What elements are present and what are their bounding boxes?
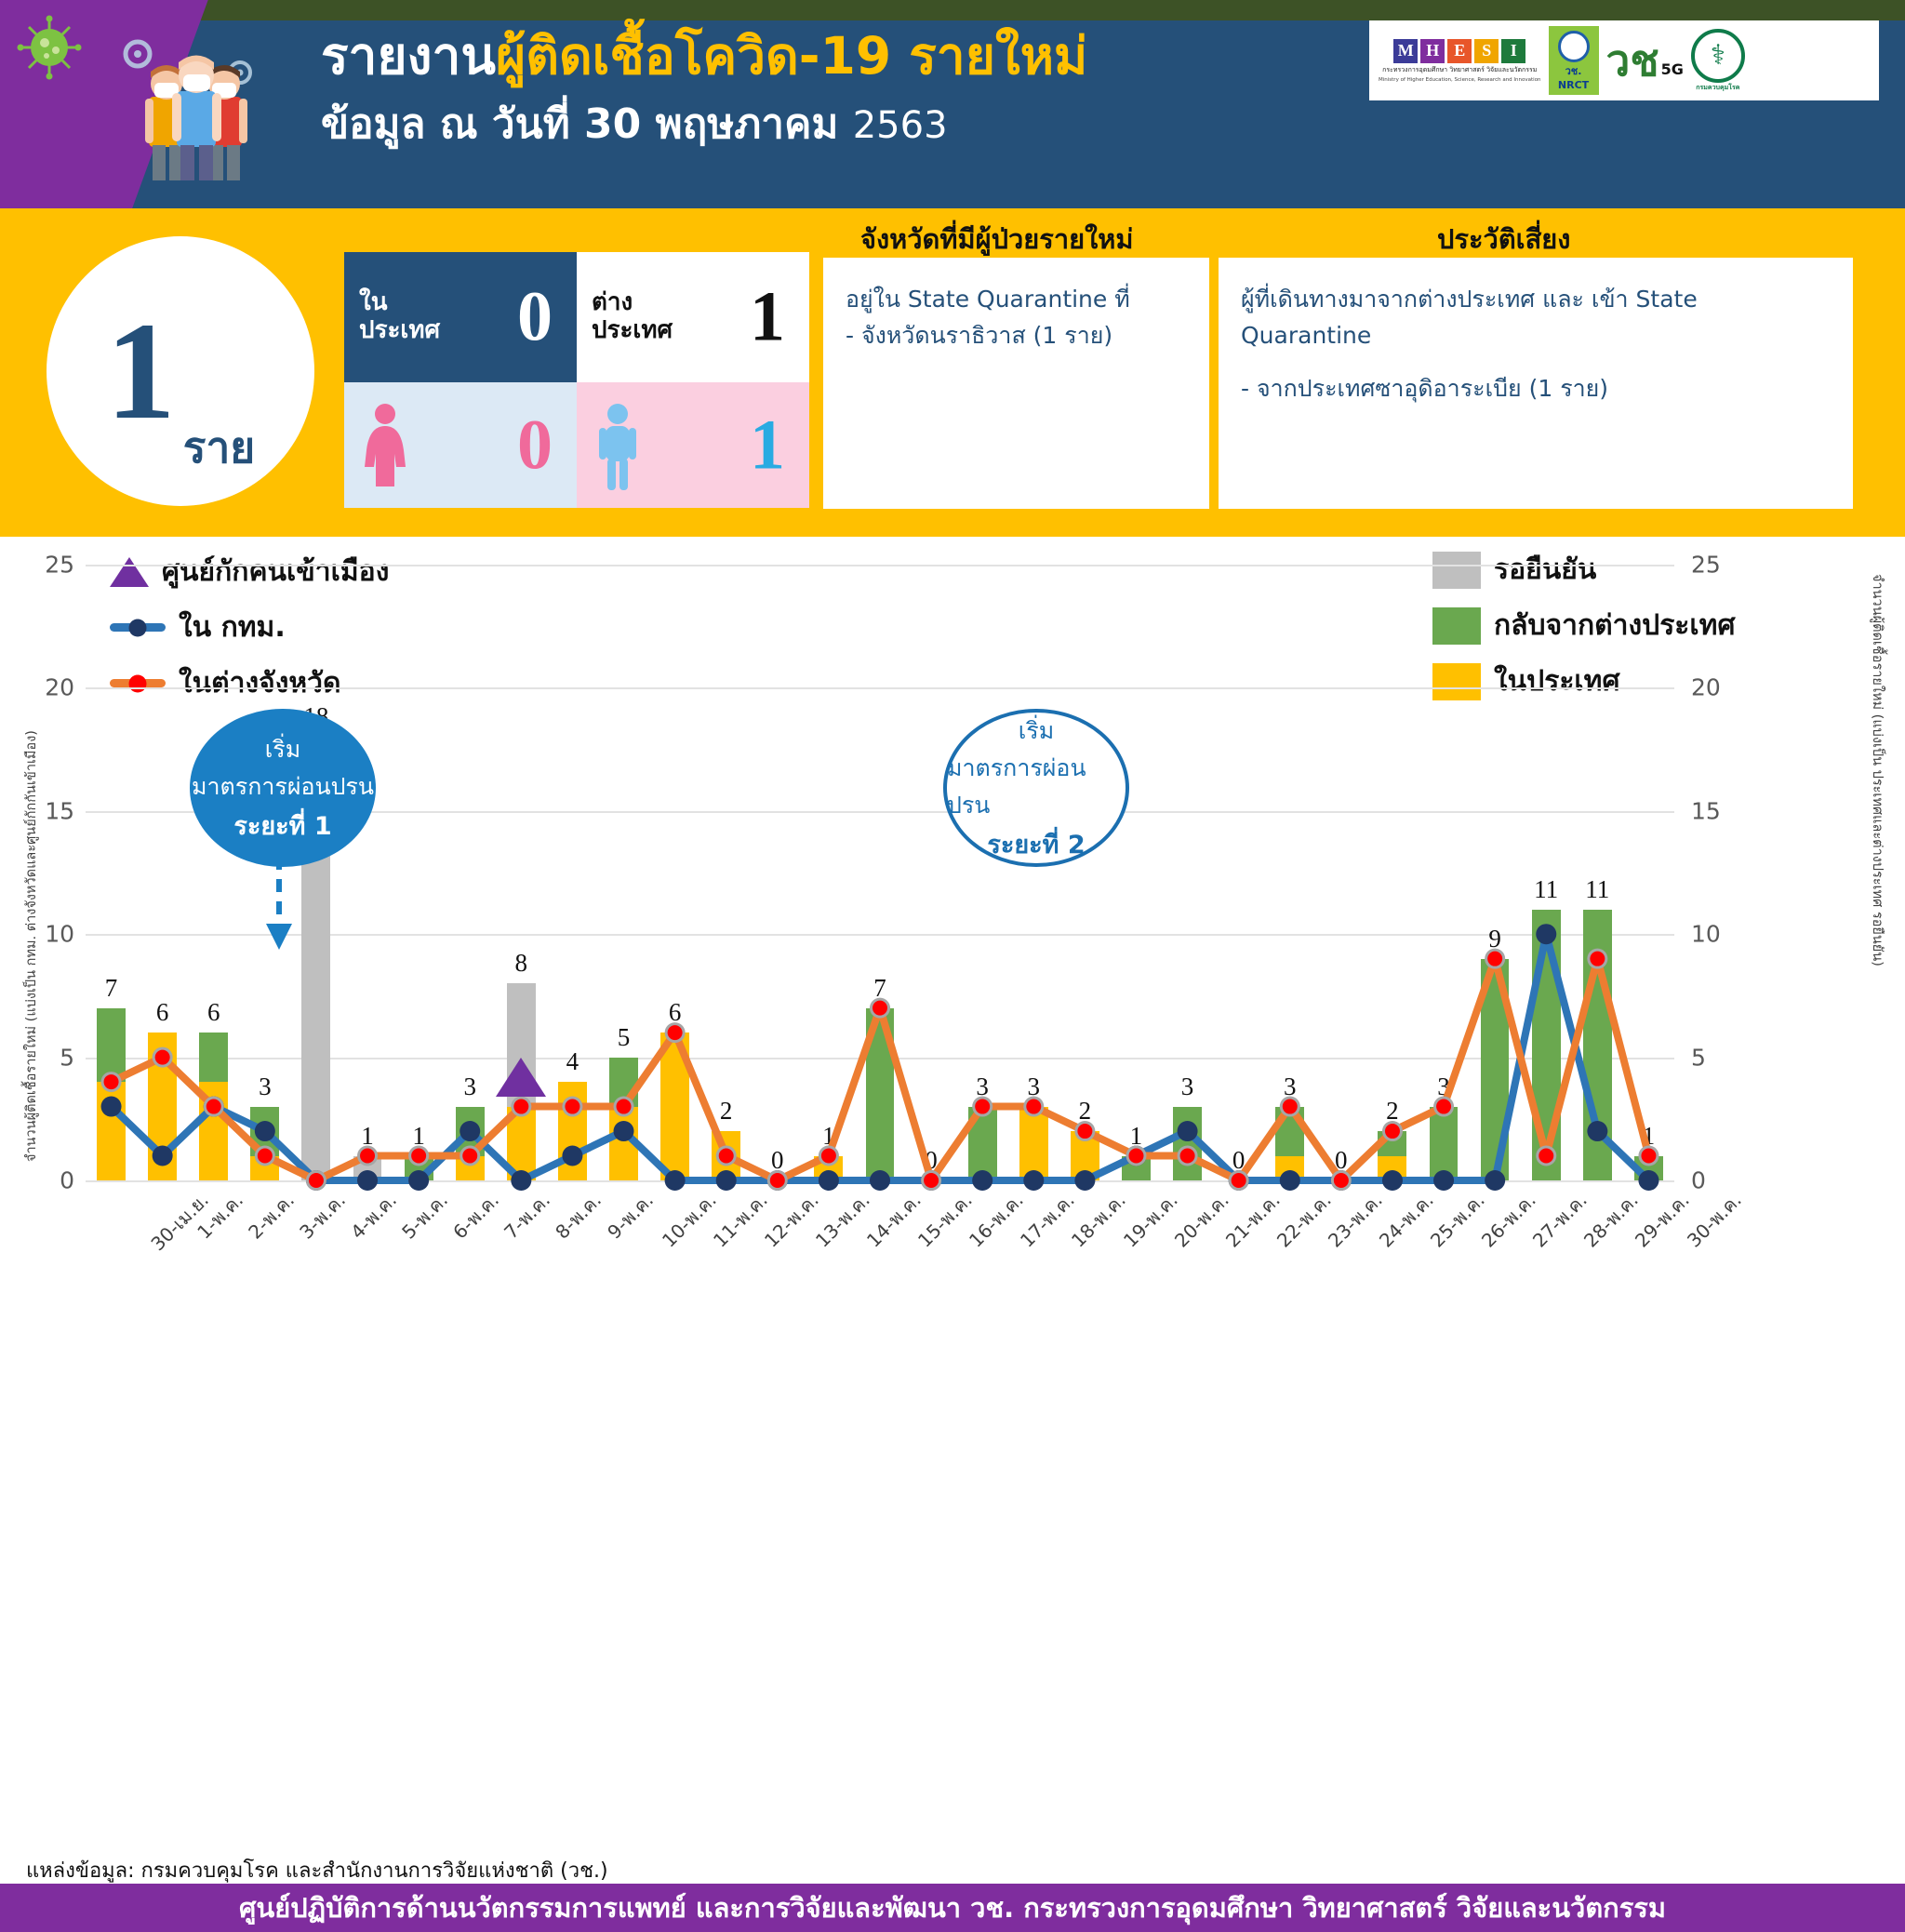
vch-5g-label: 5G: [1661, 60, 1684, 78]
y-tick-right: 20: [1691, 674, 1736, 701]
province-line-2: - จังหวัดนราธิวาส (1 ราย): [846, 318, 1187, 354]
mhesi-thai-name: กระทรวงการอุดมศึกษา วิทยาศาสตร์ วิจัยและ…: [1382, 65, 1537, 75]
breakdown-female: 0: [344, 382, 577, 508]
x-tick-label: 30-พ.ค.: [1680, 1186, 1749, 1255]
line-marker: [614, 1121, 634, 1141]
line-marker: [924, 1173, 939, 1188]
province-heading: จังหวัดที่มีผู้ป่วยรายใหม่: [860, 218, 1134, 260]
source-note: แหล่งข้อมูล: กรมควบคุมโรค และสำนักงานการ…: [26, 1854, 608, 1886]
province-line-1: อยู่ใน State Quarantine ที่: [846, 282, 1187, 318]
line-marker: [716, 1170, 737, 1191]
risk-heading: ประวัติเสี่ยง: [1437, 218, 1570, 260]
x-tick-label: 10-พ.ค.: [655, 1186, 724, 1255]
nrct-english-abbr: NRCT: [1558, 79, 1589, 91]
mhesi-letter: M: [1393, 39, 1418, 63]
line-series-overlay: [86, 565, 1674, 1180]
line-marker: [153, 1146, 173, 1166]
y-tick-right: 15: [1691, 797, 1736, 824]
x-tick-label: 11-พ.ค.: [706, 1186, 775, 1255]
line-marker: [1641, 1149, 1656, 1164]
y-tick-left: 25: [30, 552, 74, 579]
line-marker: [1283, 1099, 1298, 1114]
line-marker: [1128, 1149, 1143, 1164]
y-tick-left: 15: [30, 797, 74, 824]
line-marker: [1436, 1099, 1451, 1114]
x-tick-label: 13-พ.ค.: [808, 1186, 877, 1255]
y-tick-right: 10: [1691, 921, 1736, 948]
mhesi-letter: E: [1447, 39, 1472, 63]
line-marker: [1023, 1170, 1044, 1191]
line-marker: [1077, 1124, 1092, 1139]
breakdown-international-value: 1: [750, 277, 785, 358]
line-marker: [206, 1099, 221, 1114]
summary-band: 1 ราย ในประเทศ 0 ต่างประเทศ 1 0: [0, 208, 1905, 537]
line-marker: [1178, 1121, 1198, 1141]
x-tick-label: 2-พ.ค.: [241, 1186, 301, 1246]
callout-phase-2: เริ่ม มาตรการผ่อนปรน ระยะที่ 2: [943, 709, 1129, 867]
line-marker: [1232, 1173, 1246, 1188]
x-tick-label: 15-พ.ค.: [911, 1186, 979, 1255]
total-cases-value: 1: [106, 301, 176, 441]
x-tick-label: 3-พ.ค.: [292, 1186, 353, 1246]
page-footer: ศูนย์ปฏิบัติการด้านนวัตกรรมการแพทย์ และก…: [0, 1884, 1905, 1932]
mhesi-letter: S: [1474, 39, 1499, 63]
line-marker: [1587, 1121, 1607, 1141]
breakdown-domestic: ในประเทศ 0: [344, 252, 577, 382]
x-tick-label: 7-พ.ค.: [498, 1186, 558, 1246]
line-marker: [511, 1170, 531, 1191]
province-box: อยู่ใน State Quarantine ที่ - จังหวัดนรา…: [823, 258, 1209, 509]
y-tick-left: 0: [30, 1167, 74, 1194]
footer-text: ศูนย์ปฏิบัติการด้านนวัตกรรมการแพทย์ และก…: [239, 1886, 1666, 1929]
mhesi-letter: H: [1420, 39, 1445, 63]
x-tick-label: 18-พ.ค.: [1064, 1186, 1133, 1255]
line-marker: [101, 1097, 122, 1117]
total-cases-oval: 1 ราย: [47, 236, 314, 506]
y-tick-right: 5: [1691, 1044, 1736, 1071]
line-marker: [1385, 1124, 1400, 1139]
x-tick-label: 24-พ.ค.: [1372, 1186, 1441, 1255]
line-marker: [821, 1149, 836, 1164]
y-tick-left: 20: [30, 674, 74, 701]
line-marker: [1074, 1170, 1095, 1191]
chart-area: จำนวนผู้ติดเชื้อรายใหม่ (แบ่งเป็น กทม. ต…: [0, 537, 1905, 1281]
line-marker: [1487, 952, 1502, 966]
line-marker: [565, 1099, 579, 1114]
line-marker: [309, 1173, 324, 1188]
line-marker: [1638, 1170, 1659, 1191]
line-marker: [617, 1099, 632, 1114]
risk-line-2: Quarantine: [1241, 318, 1831, 354]
line-series: [112, 934, 1649, 1180]
logo-bar: MHESI กระทรวงการอุดมศึกษา วิทยาศาสตร์ วิ…: [1369, 20, 1879, 100]
line-marker: [975, 1099, 990, 1114]
x-tick-label: 19-พ.ค.: [1116, 1186, 1185, 1255]
line-marker: [1536, 924, 1556, 944]
subtitle-text: ข้อมูล ณ วันที่ 30 พฤษภาคม: [321, 100, 838, 148]
x-tick-label: 20-พ.ค.: [1167, 1186, 1236, 1255]
title-highlight: ผู้ติดเชื้อโควิด-19 รายใหม่: [496, 26, 1087, 86]
line-marker: [668, 1025, 683, 1040]
line-marker: [462, 1149, 477, 1164]
mhesi-letter: I: [1501, 39, 1525, 63]
page-header: รายงานผู้ติดเชื้อโควิด-19 รายใหม่ ข้อมูล…: [0, 0, 1905, 208]
y-axis-title-right: จำนวนผู้ติดเชื้อรายใหม่ (แบ่งเป็น ประเทศ…: [1867, 574, 1888, 966]
line-marker: [719, 1149, 734, 1164]
infographic-page: รายงานผู้ติดเชื้อโควิด-19 รายใหม่ ข้อมูล…: [0, 0, 1905, 1395]
line-marker: [1026, 1099, 1041, 1114]
male-icon: [592, 401, 644, 490]
total-cases-unit: ราย: [183, 414, 256, 482]
page-subtitle: ข้อมูล ณ วันที่ 30 พฤษภาคม 2563: [321, 91, 1087, 156]
x-tick-label: 5-พ.ค.: [394, 1186, 455, 1246]
callout-1-line-1: เริ่ม: [265, 731, 300, 768]
line-marker: [972, 1170, 992, 1191]
line-marker: [1382, 1170, 1403, 1191]
x-tick-label: 23-พ.ค.: [1321, 1186, 1390, 1255]
nrct-logo: วช. NRCT: [1549, 26, 1599, 95]
header-title-block: รายงานผู้ติดเชื้อโควิด-19 รายใหม่ ข้อมูล…: [321, 30, 1087, 156]
line-marker: [665, 1170, 686, 1191]
subtitle-year: 2563: [853, 104, 948, 147]
breakdown-grid: ในประเทศ 0 ต่างประเทศ 1 0: [344, 252, 809, 508]
virus-icon: [17, 15, 82, 80]
ddc-seal-icon: ⚕: [1691, 29, 1745, 83]
callout-2-line-2: มาตรการผ่อนปรน: [947, 750, 1126, 824]
ddc-thai-name: กรมควบคุมโรค: [1696, 83, 1739, 93]
line-marker: [513, 1099, 528, 1114]
mhesi-logo: MHESI กระทรวงการอุดมศึกษา วิทยาศาสตร์ วิ…: [1379, 39, 1541, 83]
x-tick-label: 4-พ.ค.: [343, 1186, 404, 1246]
risk-box: ผู้ที่เดินทางมาจากต่างประเทศ และ เข้า St…: [1219, 258, 1853, 509]
people-with-masks-icon: [121, 32, 270, 180]
breakdown-domestic-label: ในประเทศ: [359, 289, 440, 345]
breakdown-female-value: 0: [517, 405, 553, 486]
x-tick-label: 29-พ.ค.: [1629, 1186, 1698, 1255]
y-tick-right: 0: [1691, 1167, 1736, 1194]
line-marker: [1433, 1170, 1454, 1191]
vch-mark: วช: [1606, 39, 1659, 82]
header-olive-strip: [0, 0, 1905, 20]
x-tick-label: 22-พ.ค.: [1270, 1186, 1339, 1255]
immigration-triangle-marker: [496, 1058, 546, 1097]
line-marker: [770, 1173, 785, 1188]
line-marker: [1180, 1149, 1195, 1164]
x-tick-label: 12-พ.ค.: [757, 1186, 826, 1255]
nrct-wheel-icon: [1558, 31, 1590, 62]
breakdown-international: ต่างประเทศ 1: [577, 252, 809, 382]
x-tick-label: 6-พ.ค.: [446, 1186, 507, 1246]
line-marker: [870, 1170, 890, 1191]
breakdown-male: 1: [577, 382, 809, 508]
x-tick-label: 26-พ.ค.: [1474, 1186, 1543, 1255]
breakdown-international-label: ต่างประเทศ: [592, 289, 673, 345]
line-marker: [255, 1121, 275, 1141]
plot-area: 7663181138456201703321303023911111 30-เม…: [86, 565, 1674, 1180]
female-icon: [359, 401, 411, 490]
x-tick-label: 8-พ.ค.: [549, 1186, 609, 1246]
breakdown-male-value: 1: [750, 405, 785, 486]
title-prefix: รายงาน: [321, 26, 496, 86]
x-tick-label: 9-พ.ค.: [600, 1186, 660, 1246]
risk-line-3: - จากประเทศซาอุดิอาระเบีย (1 ราย): [1241, 371, 1831, 407]
x-tick-label: 14-พ.ค.: [859, 1186, 928, 1255]
breakdown-domestic-value: 0: [517, 277, 553, 358]
line-marker: [360, 1149, 375, 1164]
line-marker: [873, 1001, 887, 1016]
x-tick-label: 25-พ.ค.: [1423, 1186, 1492, 1255]
line-marker: [1334, 1173, 1349, 1188]
y-tick-right: 25: [1691, 552, 1736, 579]
line-marker: [819, 1170, 839, 1191]
callout-1-line-2: มาตรการผ่อนปรน: [192, 768, 374, 806]
line-marker: [1280, 1170, 1300, 1191]
line-marker: [1590, 952, 1605, 966]
x-tick-label: 17-พ.ค.: [1013, 1186, 1082, 1255]
risk-line-1: ผู้ที่เดินทางมาจากต่างประเทศ และ เข้า St…: [1241, 282, 1831, 318]
line-marker: [104, 1074, 119, 1089]
line-marker: [1539, 1149, 1553, 1164]
x-tick-label: 16-พ.ค.: [962, 1186, 1031, 1255]
x-tick-label: 27-พ.ค.: [1525, 1186, 1594, 1255]
line-marker: [408, 1170, 429, 1191]
vch-5g-logo: วช 5G: [1606, 39, 1684, 82]
x-tick-label: 28-พ.ค.: [1577, 1186, 1645, 1255]
line-marker: [411, 1149, 426, 1164]
mhesi-english-name: Ministry of Higher Education, Science, R…: [1379, 77, 1541, 83]
line-marker: [155, 1050, 170, 1065]
line-marker: [562, 1146, 582, 1166]
y-tick-left: 10: [30, 921, 74, 948]
x-tick-label: 21-พ.ค.: [1219, 1186, 1287, 1255]
nrct-thai-abbr: วช.: [1565, 62, 1582, 79]
callout-2-line-1: เริ่ม: [1019, 713, 1054, 750]
page-title: รายงานผู้ติดเชื้อโควิด-19 รายใหม่: [321, 30, 1087, 84]
callout-2-line-3: ระยะที่ 2: [987, 824, 1085, 864]
callout-1-arrow: [260, 834, 298, 955]
line-series: [112, 959, 1649, 1180]
line-marker: [357, 1170, 378, 1191]
line-marker: [258, 1149, 273, 1164]
line-marker: [460, 1121, 480, 1141]
y-tick-left: 5: [30, 1044, 74, 1071]
line-marker: [1485, 1170, 1505, 1191]
ddc-logo: ⚕ กรมควบคุมโรค: [1691, 29, 1745, 93]
